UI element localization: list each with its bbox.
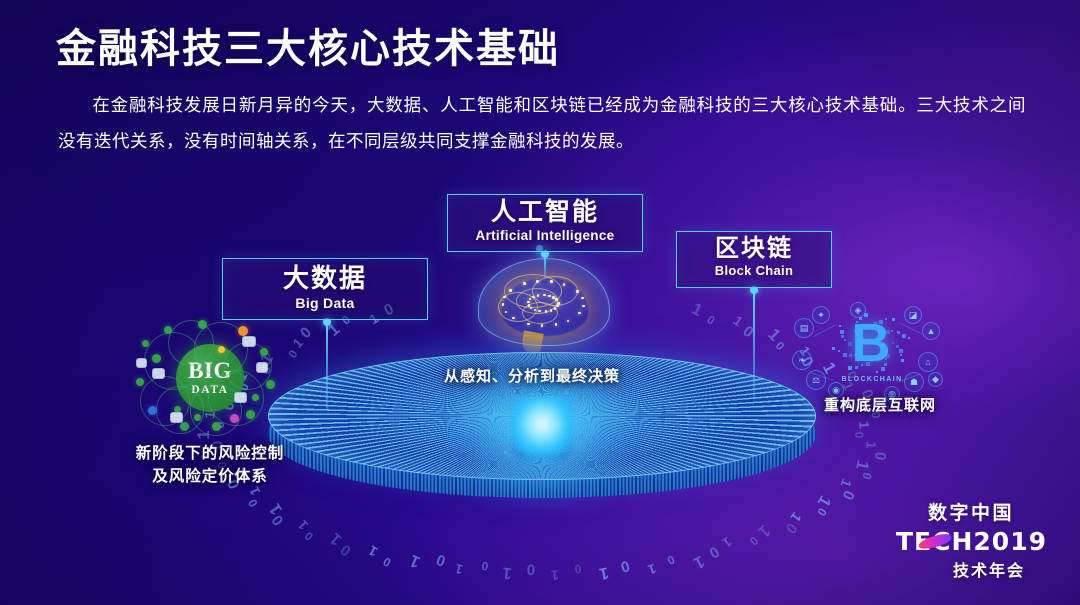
pillar-blockchain-cn: 区块链 (677, 236, 831, 262)
caption-bigdata-line2: 及风险定价体系 (108, 466, 312, 489)
page-title: 金融科技三大核心技术基础 (56, 16, 560, 74)
connector-line-blockchain (753, 290, 755, 398)
slide-root: 0101010101010101010101010101010101010101… (0, 0, 1080, 605)
pillar-blockchain-en: Block Chain (677, 263, 831, 278)
caption-ai-line1: 从感知、分析到最终决策 (432, 366, 632, 388)
pillar-label-blockchain[interactable]: 区块链 Block Chain (676, 231, 832, 288)
pillar-label-ai[interactable]: 人工智能 Artificial Intelligence (447, 194, 643, 252)
logo-line-digital-china: 数字中国 (896, 498, 1046, 525)
logo-tech2019-text: TECH2019 (896, 527, 1047, 556)
caption-bigdata-line1: 新阶段下的风险控制 (108, 443, 312, 466)
connector-line-ai (544, 254, 546, 278)
logo-line-tech2019: TECH2019 (896, 527, 1047, 556)
pillar-ai-en: Artificial Intelligence (448, 228, 642, 243)
pillar-label-bigdata[interactable]: 大数据 Big Data (222, 258, 428, 320)
pillar-ai-cn: 人工智能 (448, 199, 642, 227)
connector-line-bigdata (326, 322, 328, 410)
pillar-bigdata-cn: 大数据 (223, 264, 427, 294)
caption-bigdata: 新阶段下的风险控制 及风险定价体系 (108, 443, 312, 489)
caption-ai: 从感知、分析到最终决策 (432, 366, 632, 388)
event-logo: 数字中国 TECH2019 技术年会 (896, 498, 1046, 581)
slide-body-text: 在金融科技发展日新月异的今天，大数据、人工智能和区块链已经成为金融科技的三大核心… (58, 88, 1026, 159)
caption-blockchain: 重构底层互联网 (800, 395, 960, 417)
caption-blockchain-line1: 重构底层互联网 (800, 395, 960, 417)
slide-body-paragraph: 在金融科技发展日新月异的今天，大数据、人工智能和区块链已经成为金融科技的三大核心… (58, 95, 1026, 151)
pillar-bigdata-en: Big Data (223, 295, 427, 311)
logo-line-annual-conference: 技术年会 (896, 557, 1046, 581)
